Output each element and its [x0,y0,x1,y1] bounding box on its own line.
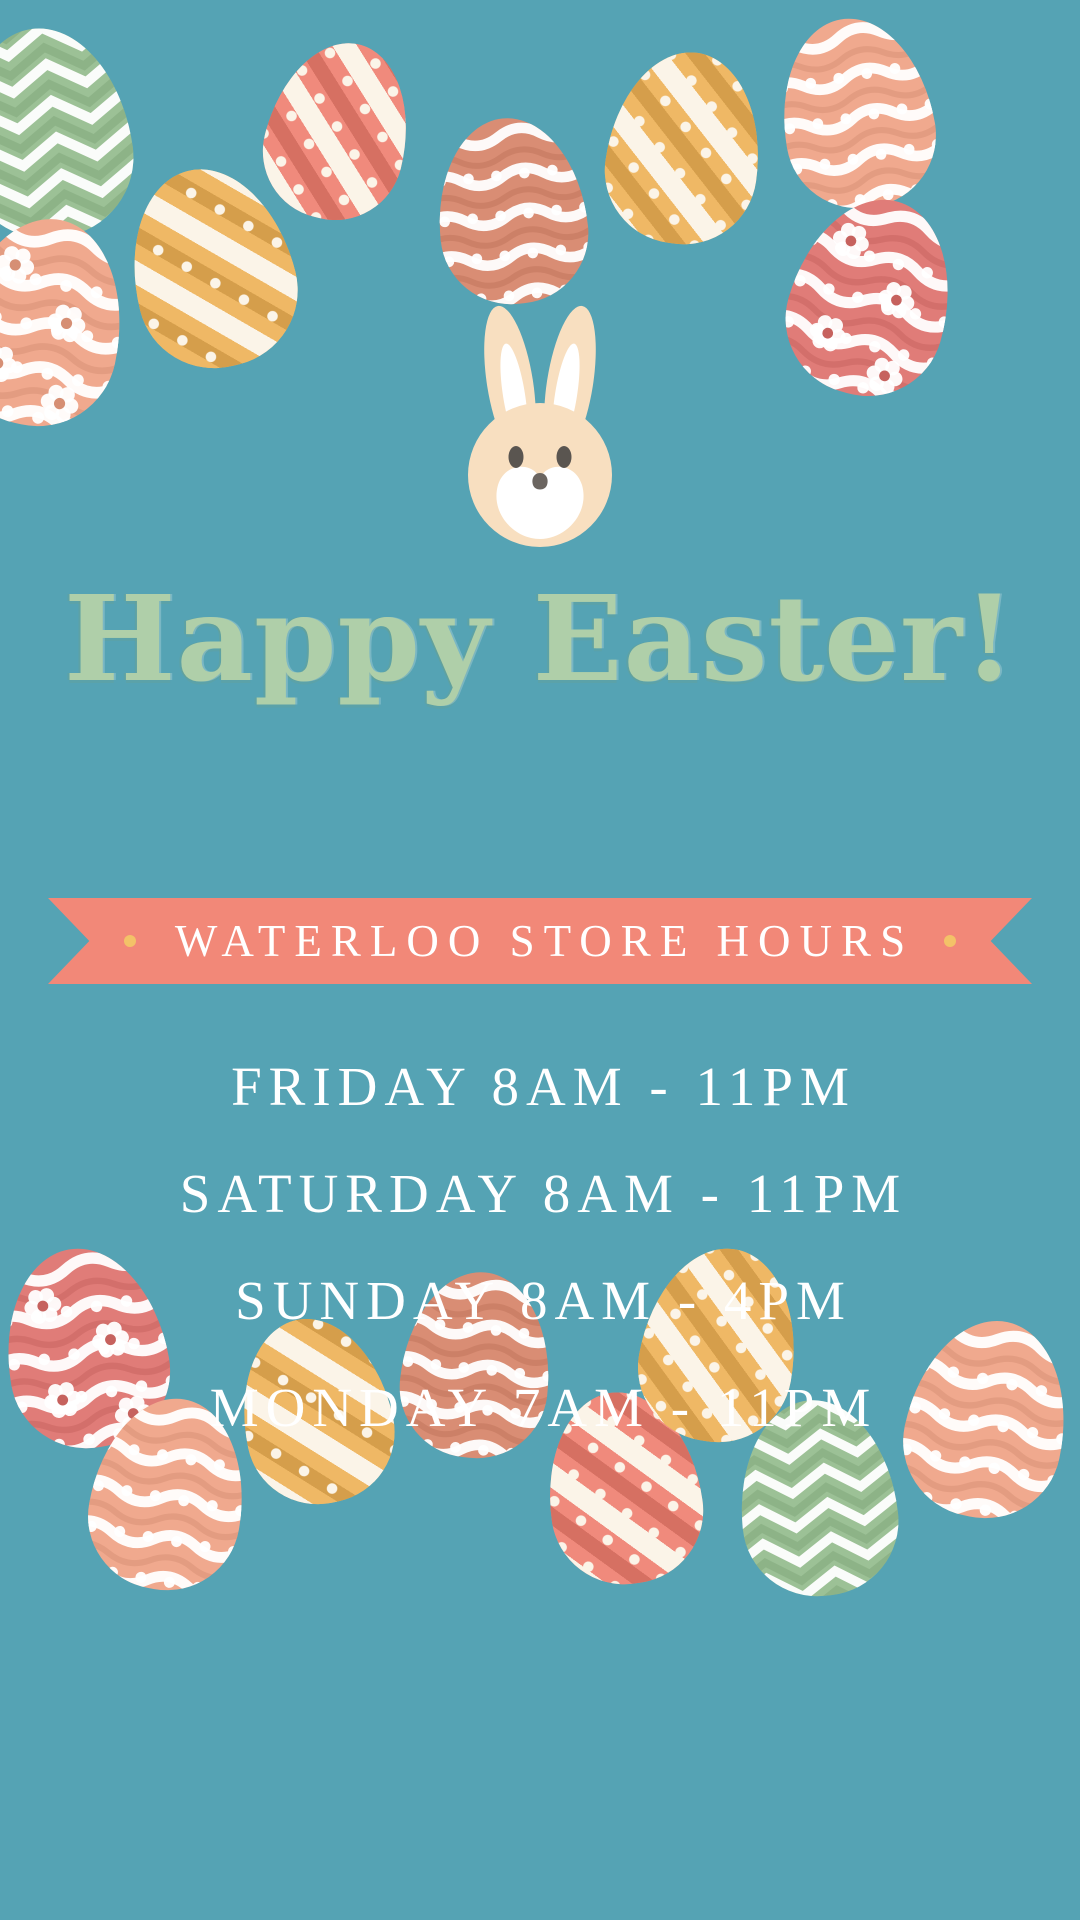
egg-wave-pattern [767,6,948,219]
egg-top-coral-stripe [249,28,428,235]
banner-label: WATERLOO STORE HOURS [48,898,1032,984]
store-hours-list: FRIDAY 8AM - 11PM SATURDAY 8AM - 11PM SU… [0,1055,1080,1439]
egg-wave-pattern [429,111,596,311]
hours-row: MONDAY 7AM - 11PM [0,1376,1080,1439]
page-title: Happy Easter! [0,580,1080,698]
bunny-head-icon [440,295,640,555]
egg-wave-pattern [0,203,142,441]
egg-top-terracotta-wave [429,111,596,311]
egg-dot-pattern [595,42,772,253]
store-hours-banner: WATERLOO STORE HOURS [48,898,1032,984]
hours-row: SUNDAY 8AM - 4PM [0,1269,1080,1332]
egg-top-right-peach-wave [767,6,948,219]
easter-store-hours-poster: Happy Easter! WATERLOO STORE HOURS FRIDA… [0,0,1080,1920]
egg-top-left-peach-flower [0,203,142,441]
egg-top-gold-stripe-2 [595,42,772,253]
hours-row: SATURDAY 8AM - 11PM [0,1162,1080,1225]
hours-row: FRIDAY 8AM - 11PM [0,1055,1080,1118]
egg-dot-pattern [249,28,428,235]
